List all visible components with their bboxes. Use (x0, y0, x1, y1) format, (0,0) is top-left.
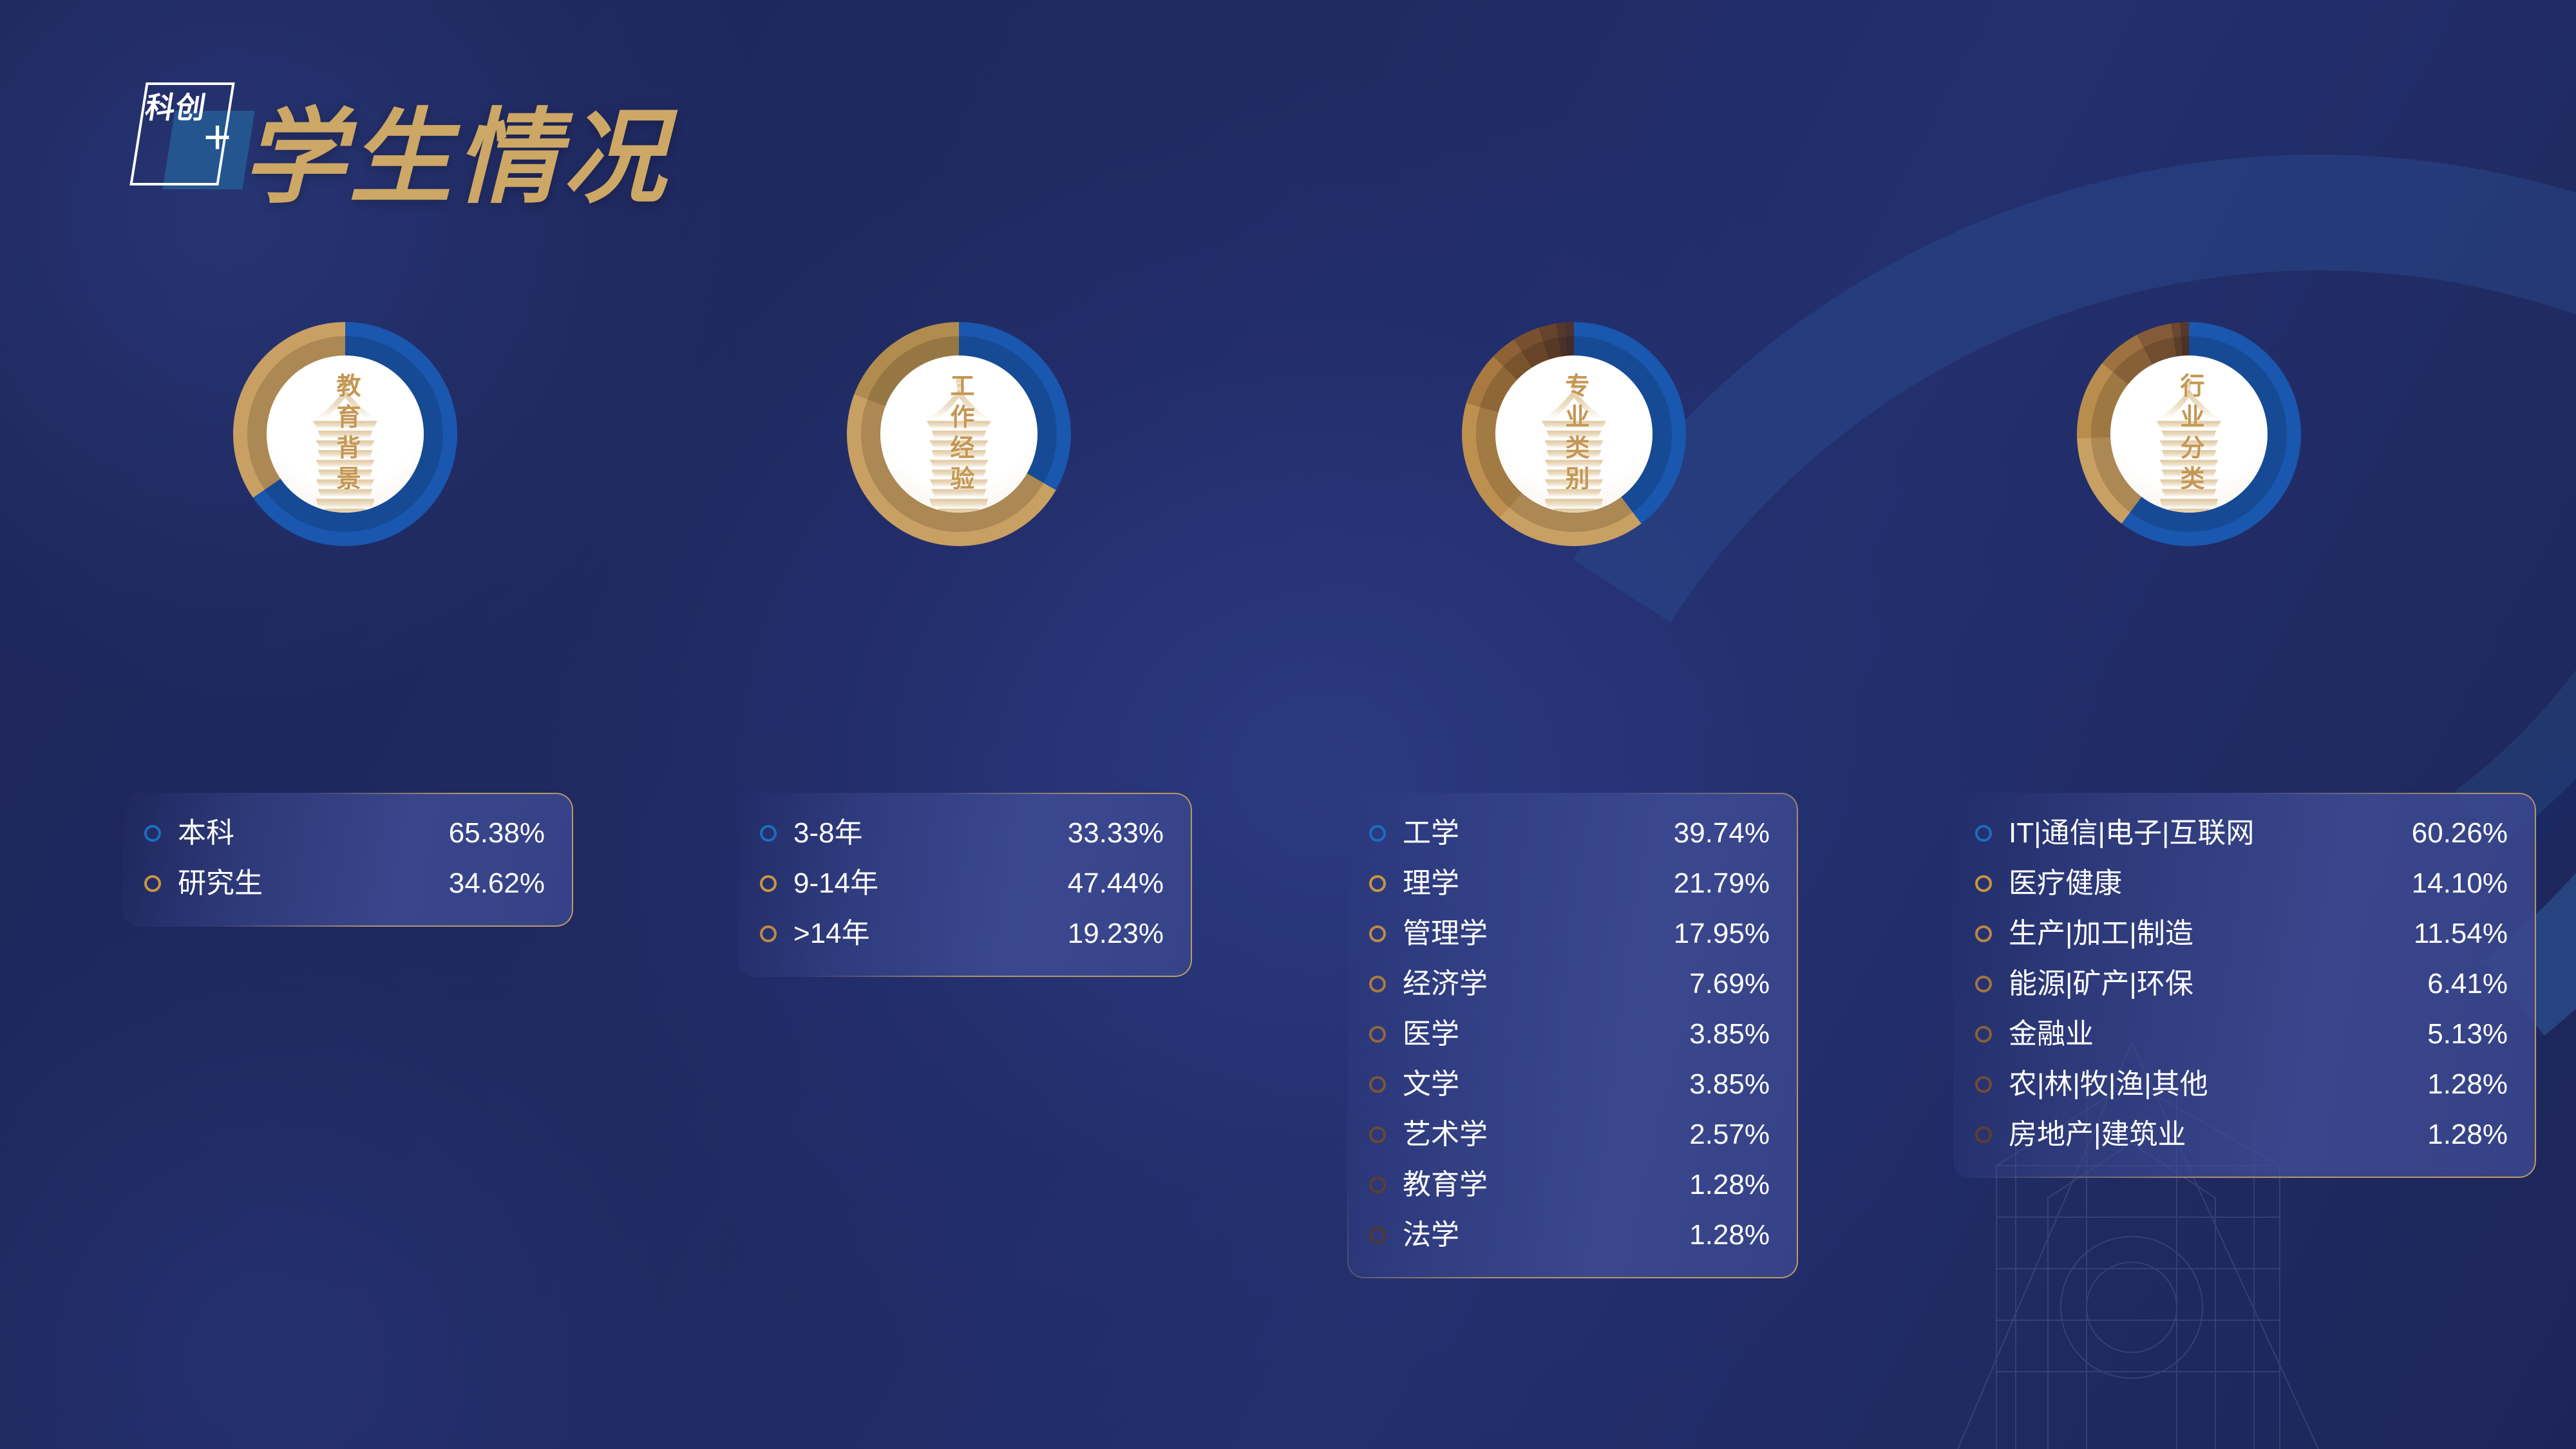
legend-value: 11.54% (2414, 918, 2508, 949)
legend-row[interactable]: 生产|加工|制造11.54% (1975, 909, 2508, 959)
legend-value: 1.28% (1689, 1170, 1770, 1200)
donut-chart-4[interactable]: 行业分类 (2077, 322, 2301, 546)
legend-label: 农|林|牧|渔|其他 (2009, 1069, 2208, 1100)
legend-bullet-circle-icon (1369, 1227, 1386, 1244)
legend-value: 5.13% (2427, 1019, 2508, 1050)
legend-value: 17.95% (1674, 918, 1770, 949)
legend-row[interactable]: 管理学17.95% (1369, 909, 1770, 959)
legend-row[interactable]: 医疗健康14.10% (1975, 858, 2508, 909)
legend-row[interactable]: 教育学1.28% (1369, 1160, 1770, 1210)
legend-label: 工学 (1403, 818, 1459, 849)
legend-row[interactable]: IT|通信|电子|互联网60.26% (1975, 808, 2508, 858)
legend-value: 3.85% (1689, 1019, 1770, 1050)
legend-bullet-circle-icon (1369, 925, 1386, 942)
legend-label: 法学 (1403, 1220, 1459, 1251)
legend-label: 能源|矿产|环保 (2009, 969, 2193, 999)
legend-label: IT|通信|电子|互联网 (2009, 818, 2254, 849)
donut-center-label: 行业分类 (2176, 373, 2202, 497)
legend-value: 19.23% (1068, 918, 1164, 949)
donut-center-disc: 工作经验 (880, 355, 1037, 513)
legend-row[interactable]: 房地产|建筑业1.28% (1975, 1110, 2508, 1160)
legend-value: 21.79% (1674, 868, 1770, 899)
legend-label: 理学 (1403, 868, 1459, 899)
legend-card-3: 工学39.74%理学21.79%管理学17.95%经济学7.69%医学3.85%… (1347, 793, 1798, 1278)
legend-bullet-circle-icon (1369, 1177, 1386, 1193)
legend-label: 文学 (1403, 1069, 1459, 1100)
chart-column-4: 行业分类IT|通信|电子|互联网60.26%医疗健康14.10%生产|加工|制造… (0, 0, 618, 1449)
legend-value: 33.33% (1068, 818, 1164, 849)
legend-row[interactable]: 9-14年47.44% (760, 858, 1164, 909)
legend-label: 本科 (178, 818, 234, 849)
legend-bullet-circle-icon (1975, 1026, 1992, 1043)
legend-bullet-circle-icon (1975, 875, 1992, 892)
donut-center-disc: 专业类别 (1495, 355, 1653, 513)
legend-bullet-circle-icon (1369, 1126, 1386, 1143)
legend-value: 3.85% (1689, 1069, 1770, 1100)
legend-card-1: 本科65.38%研究生34.62% (122, 793, 573, 927)
donut-center-label: 工作经验 (946, 373, 972, 497)
legend-value: 34.62% (449, 868, 545, 899)
legend-row[interactable]: 研究生34.62% (144, 858, 545, 909)
legend-row[interactable]: 理学21.79% (1369, 858, 1770, 909)
legend-label: 生产|加工|制造 (2009, 918, 2193, 949)
legend-label: 管理学 (1403, 918, 1488, 949)
legend-bullet-circle-icon (144, 825, 161, 842)
legend-bullet-circle-icon (760, 875, 777, 892)
legend-bullet-circle-icon (1975, 976, 1992, 992)
legend-value: 65.38% (449, 818, 545, 849)
legend-value: 60.26% (2412, 818, 2508, 849)
legend-row[interactable]: 法学1.28% (1369, 1210, 1770, 1260)
legend-row[interactable]: 经济学7.69% (1369, 959, 1770, 1009)
legend-row[interactable]: 文学3.85% (1369, 1059, 1770, 1110)
legend-bullet-circle-icon (1369, 875, 1386, 892)
legend-bullet-circle-icon (1975, 1126, 1992, 1143)
legend-label: 艺术学 (1403, 1119, 1488, 1150)
legend-value: 47.44% (1068, 868, 1164, 899)
legend-row[interactable]: 金融业5.13% (1975, 1009, 2508, 1059)
legend-row[interactable]: 3-8年33.33% (760, 808, 1164, 858)
legend-value: 6.41% (2427, 969, 2508, 999)
legend-label: 经济学 (1403, 969, 1488, 999)
slide-canvas: 科创 + 学生情况 教育背景本科65.38%研究生34.62% 工作经验3-8年… (0, 0, 2576, 1449)
legend-row[interactable]: 医学3.85% (1369, 1009, 1770, 1059)
legend-value: 39.74% (1674, 818, 1770, 849)
legend-label: >14年 (793, 918, 870, 949)
legend-label: 医疗健康 (2009, 868, 2122, 899)
legend-label: 3-8年 (793, 818, 863, 849)
legend-value: 1.28% (2427, 1119, 2508, 1150)
legend-card-4: IT|通信|电子|互联网60.26%医疗健康14.10%生产|加工|制造11.5… (1953, 793, 2536, 1178)
legend-value: 2.57% (1689, 1119, 1770, 1150)
legend-row[interactable]: 本科65.38% (144, 808, 545, 858)
donut-center-disc: 行业分类 (2110, 355, 2268, 513)
legend-value: 1.28% (2427, 1069, 2508, 1100)
legend-label: 金融业 (2009, 1019, 2094, 1050)
legend-bullet-circle-icon (1369, 1076, 1386, 1093)
legend-card-2: 3-8年33.33%9-14年47.44%>14年19.23% (738, 793, 1192, 977)
legend-bullet-circle-icon (1369, 825, 1386, 842)
legend-bullet-circle-icon (1975, 925, 1992, 942)
legend-label: 教育学 (1403, 1170, 1488, 1200)
legend-row[interactable]: 能源|矿产|环保6.41% (1975, 959, 2508, 1009)
legend-row[interactable]: 艺术学2.57% (1369, 1110, 1770, 1160)
legend-bullet-circle-icon (1369, 976, 1386, 992)
legend-row[interactable]: 工学39.74% (1369, 808, 1770, 858)
legend-value: 1.28% (1689, 1220, 1770, 1251)
legend-label: 9-14年 (793, 868, 878, 899)
donut-chart-2[interactable]: 工作经验 (847, 322, 1071, 546)
legend-label: 医学 (1403, 1019, 1459, 1050)
legend-label: 研究生 (178, 868, 263, 899)
donut-chart-3[interactable]: 专业类别 (1462, 322, 1686, 546)
legend-row[interactable]: >14年19.23% (760, 909, 1164, 959)
legend-bullet-circle-icon (760, 925, 777, 942)
legend-bullet-circle-icon (1369, 1026, 1386, 1043)
legend-row[interactable]: 农|林|牧|渔|其他1.28% (1975, 1059, 2508, 1110)
legend-label: 房地产|建筑业 (2009, 1119, 2186, 1150)
legend-value: 7.69% (1689, 969, 1770, 999)
legend-value: 14.10% (2412, 868, 2508, 899)
donut-center-label: 专业类别 (1561, 373, 1587, 497)
legend-bullet-circle-icon (1975, 825, 1992, 842)
legend-bullet-circle-icon (144, 875, 161, 892)
legend-bullet-circle-icon (760, 825, 777, 842)
legend-bullet-circle-icon (1975, 1076, 1992, 1093)
